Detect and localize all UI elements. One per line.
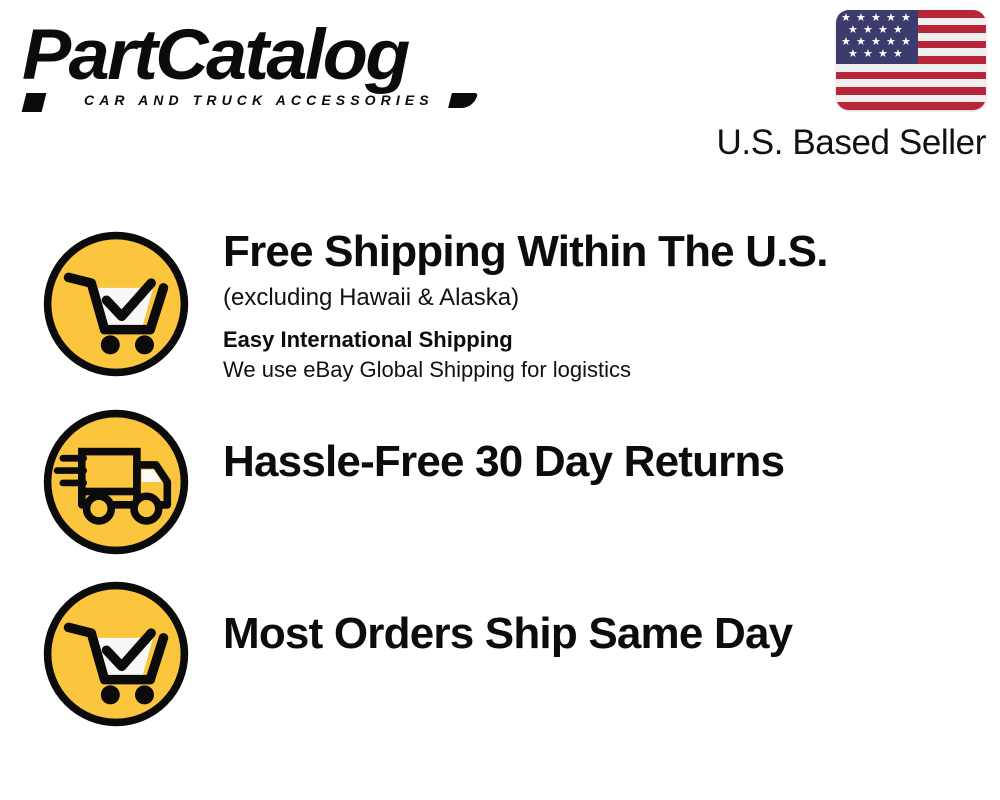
seller-info-banner: PartCatalog CAR AND TRUCK ACCESSORIES	[0, 0, 1000, 800]
shopping-cart-check-icon	[40, 228, 192, 380]
logo-tagline: CAR AND TRUCK ACCESSORIES	[84, 92, 434, 108]
us-based-seller-block: ★ ★ ★ ★ ★ ★ ★ ★ ★ ★ ★ ★ ★ ★ ★ ★ ★	[686, 10, 986, 163]
logo-tagline-row: CAR AND TRUCK ACCESSORIES	[22, 92, 482, 114]
feature-heading: Most Orders Ship Same Day	[223, 612, 1000, 657]
feature-subtext-strong: Easy International Shipping	[223, 327, 1000, 353]
us-flag-icon: ★ ★ ★ ★ ★ ★ ★ ★ ★ ★ ★ ★ ★ ★ ★ ★ ★	[836, 10, 986, 110]
feature-heading: Free Shipping Within The U.S.	[223, 230, 1000, 275]
feature-subtext: (excluding Hawaii & Alaska)	[223, 284, 1000, 313]
feature-item: Free Shipping Within The U.S. (excluding…	[0, 228, 1000, 398]
logo-right-bar-decoration	[448, 93, 478, 108]
logo-wordmark: PartCatalog	[22, 22, 511, 89]
shopping-cart-check-icon	[40, 578, 192, 730]
flag-canton: ★ ★ ★ ★ ★ ★ ★ ★ ★ ★ ★ ★ ★ ★ ★ ★ ★	[836, 10, 918, 64]
us-based-seller-label: U.S. Based Seller	[686, 123, 986, 163]
banner-header: PartCatalog CAR AND TRUCK ACCESSORIES	[0, 0, 1000, 175]
feature-item: Most Orders Ship Same Day	[0, 572, 1000, 742]
feature-item: Hassle-Free 30 Day Returns	[0, 400, 1000, 570]
partcatalog-logo[interactable]: PartCatalog CAR AND TRUCK ACCESSORIES	[22, 22, 492, 114]
delivery-truck-icon	[40, 406, 192, 558]
feature-text: Hassle-Free 30 Day Returns	[192, 400, 1000, 485]
feature-subtext-small: We use eBay Global Shipping for logistic…	[223, 357, 1000, 383]
logo-left-bar-decoration	[22, 93, 47, 112]
feature-heading: Hassle-Free 30 Day Returns	[223, 440, 1000, 485]
feature-text: Free Shipping Within The U.S. (excluding…	[192, 228, 1000, 383]
feature-text: Most Orders Ship Same Day	[192, 572, 1000, 657]
